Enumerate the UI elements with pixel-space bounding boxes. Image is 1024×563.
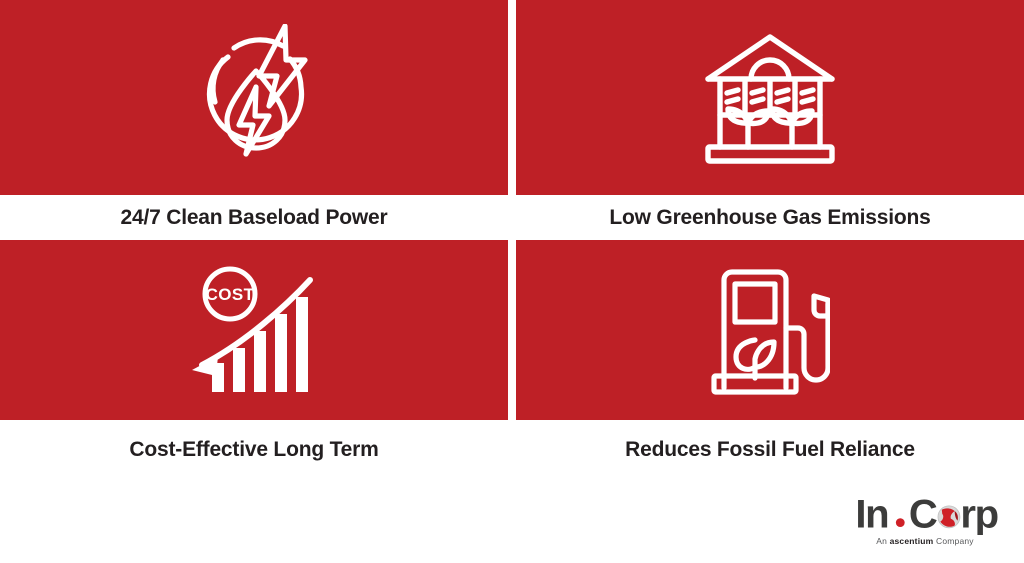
green-fuel-pump-icon <box>710 264 830 396</box>
feature-card-label: Reduces Fossil Fuel Reliance <box>516 420 1024 480</box>
feature-card-label: 24/7 Clean Baseload Power <box>0 195 508 240</box>
card-art-panel <box>516 240 1024 420</box>
geothermal-energy-flame-bolt-icon <box>193 24 315 172</box>
feature-card-clean-baseload-power[interactable]: 24/7 Clean Baseload Power <box>0 0 508 240</box>
globe-icon <box>938 506 960 528</box>
logo-tagline: An ascentium Company <box>852 536 1002 546</box>
card-art-panel <box>516 0 1024 195</box>
feature-card-label: Low Greenhouse Gas Emissions <box>516 195 1024 240</box>
tagline-lead: An <box>876 536 889 546</box>
feature-card-label: Cost-Effective Long Term <box>0 420 508 480</box>
incorp-wordmark: In C rp <box>852 493 1002 535</box>
feature-card-reduces-fossil-fuel-reliance[interactable]: Reduces Fossil Fuel Reliance <box>516 240 1024 480</box>
column-gutter <box>508 0 516 480</box>
wordmark-dot <box>896 518 905 527</box>
wordmark-rp: rp <box>960 493 997 535</box>
feature-card-cost-effective-long-term[interactable]: COST <box>0 240 508 480</box>
card-art-panel <box>0 0 508 195</box>
wordmark-c: C <box>909 493 937 535</box>
feature-card-low-greenhouse-gas-emissions[interactable]: Low Greenhouse Gas Emissions <box>516 0 1024 240</box>
greenhouse-plants-icon <box>702 31 838 165</box>
wordmark-in: In <box>855 493 888 535</box>
brand-logo[interactable]: In C rp An ascentium Company <box>852 493 1002 555</box>
card-art-panel: COST <box>0 240 508 420</box>
cost-icon-text: COST <box>206 285 255 304</box>
infographic-page: 24/7 Clean Baseload Power <box>0 0 1024 563</box>
tagline-tail: Company <box>933 536 973 546</box>
tagline-brand: ascentium <box>890 536 934 546</box>
cost-declining-bar-chart-icon: COST <box>186 266 322 394</box>
feature-card-grid: 24/7 Clean Baseload Power <box>0 0 1024 480</box>
